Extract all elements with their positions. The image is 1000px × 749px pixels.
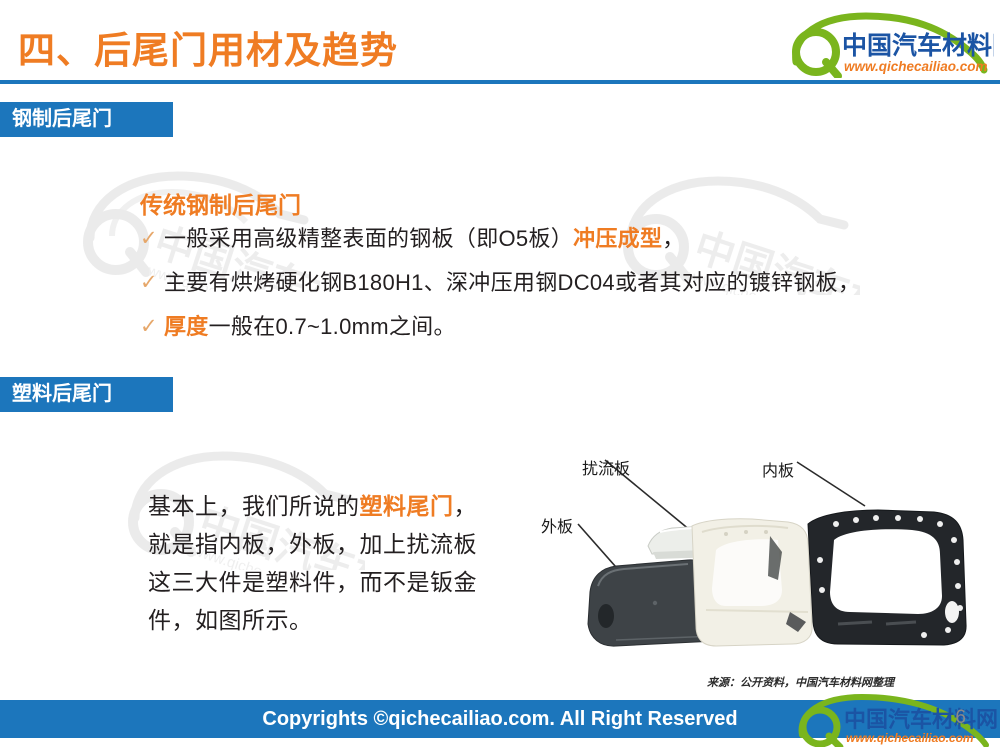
list-item: ✓ 主要有烘烤硬化钢B180H1、深冲压用钢DC04或者其对应的镀锌钢板， (140, 268, 970, 298)
figure-source-note: 来源：公开资料，中国汽车材料网整理 (707, 674, 894, 690)
check-icon: ✓ (140, 312, 164, 342)
section-badge-steel: 钢制后尾门 (0, 102, 173, 137)
plain-text: 一般采用高级精整表面的钢板（即O5板） (164, 226, 573, 251)
plastic-paragraph: 基本上，我们所说的塑料尾门，就是指内板，外板，加上扰流板这三大件是塑料件，而不是… (148, 487, 493, 639)
list-item: ✓ 厚度一般在0.7~1.0mm之间。 (140, 312, 970, 342)
brand-logo: 中国汽车材料网 www.qichecailiao.com (782, 8, 994, 78)
figure-label-inner-panel: 内板 (762, 457, 794, 481)
list-item: ✓ 一般采用高级精整表面的钢板（即O5板）冲压成型， (140, 224, 970, 254)
svg-text:www.qichecailiao.com: www.qichecailiao.com (844, 59, 988, 74)
check-icon: ✓ (140, 224, 164, 254)
svg-text:www.qichecailiao.com: www.qichecailiao.com (846, 731, 974, 745)
footer-brand-logo: 中国汽车材料网 www.qichecailiao.com (792, 691, 998, 747)
svg-text:中国汽车材料网: 中国汽车材料网 (844, 707, 998, 732)
bullet-text-1: 主要有烘烤硬化钢B180H1、深冲压用钢DC04或者其对应的镀锌钢板， (164, 268, 860, 298)
emphasis-text: 塑料尾门 (360, 493, 454, 519)
header-divider (0, 80, 1000, 84)
figure-label-outer-panel: 外板 (541, 513, 573, 537)
figure-label-spoiler: 扰流板 (582, 455, 630, 479)
plain-text: 一般在0.7~1.0mm之间。 (209, 314, 456, 339)
section-badge-plastic: 塑料后尾门 (0, 377, 173, 412)
svg-text:中国汽车材料网: 中国汽车材料网 (842, 31, 994, 60)
bullet-text-0: 一般采用高级精整表面的钢板（即O5板）冲压成型， (164, 224, 685, 254)
plain-text: 主要有烘烤硬化钢B180H1、深冲压用钢DC04或者其对应的镀锌钢板， (164, 270, 860, 295)
steel-sub-heading: 传统钢制后尾门 (140, 186, 301, 220)
slide: 中国汽车材料网 www.qichecailiao.com 中国汽车材料网 www… (0, 0, 1000, 749)
bullet-text-2: 厚度一般在0.7~1.0mm之间。 (164, 312, 456, 342)
check-icon: ✓ (140, 268, 164, 298)
plain-text: ， (662, 226, 684, 251)
plain-text: 基本上，我们所说的 (148, 493, 360, 519)
steel-bullet-list: ✓ 一般采用高级精整表面的钢板（即O5板）冲压成型， ✓ 主要有烘烤硬化钢B18… (140, 224, 970, 356)
page-title: 四、后尾门用材及趋势 (18, 20, 398, 74)
page-number: 6 (955, 707, 966, 729)
emphasis-text: 冲压成型 (573, 226, 662, 251)
emphasis-text: 厚度 (164, 314, 209, 339)
